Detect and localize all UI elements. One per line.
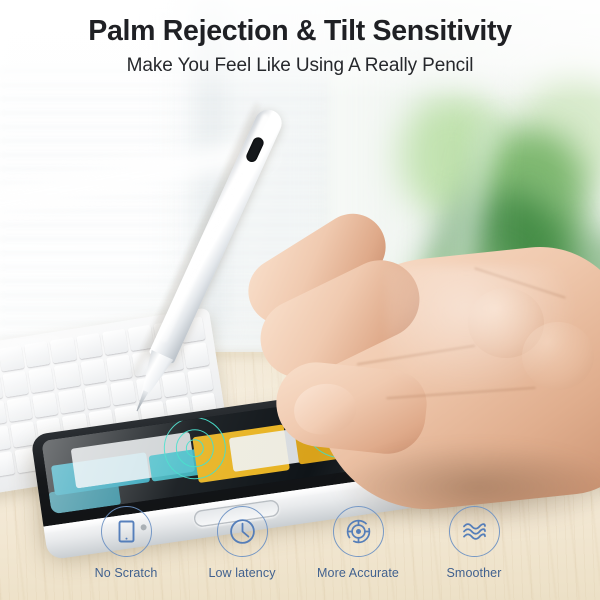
feature-label: Low latency — [208, 566, 275, 580]
feature-item-no-scratch: No Scratch — [68, 506, 184, 580]
page-subtitle: Make You Feel Like Using A Really Pencil — [0, 55, 600, 77]
waves-icon — [459, 516, 490, 547]
hand — [236, 196, 600, 526]
clock-icon — [228, 517, 257, 546]
feature-label: No Scratch — [95, 566, 158, 580]
stylus-tip — [134, 390, 149, 413]
target-icon — [343, 516, 374, 547]
feature-icon-ring — [449, 506, 500, 557]
feature-item-low-latency: Low latency — [184, 506, 300, 580]
feature-icon-ring — [217, 506, 268, 557]
feature-list: No Scratch Low latency More Accurate — [0, 506, 600, 596]
feature-label: More Accurate — [317, 566, 399, 580]
tablet-icon — [113, 518, 140, 545]
page-title: Palm Rejection & Tilt Sensitivity — [0, 16, 600, 48]
feature-label: Smoother — [447, 566, 502, 580]
headline-block: Palm Rejection & Tilt Sensitivity Make Y… — [0, 0, 600, 77]
feature-item-smoother: Smoother — [416, 506, 532, 580]
feature-icon-ring — [101, 506, 152, 557]
feature-item-more-accurate: More Accurate — [300, 506, 416, 580]
feature-icon-ring — [333, 506, 384, 557]
product-marketing-image: Palm Rejection & Tilt Sensitivity Make Y… — [0, 0, 600, 600]
